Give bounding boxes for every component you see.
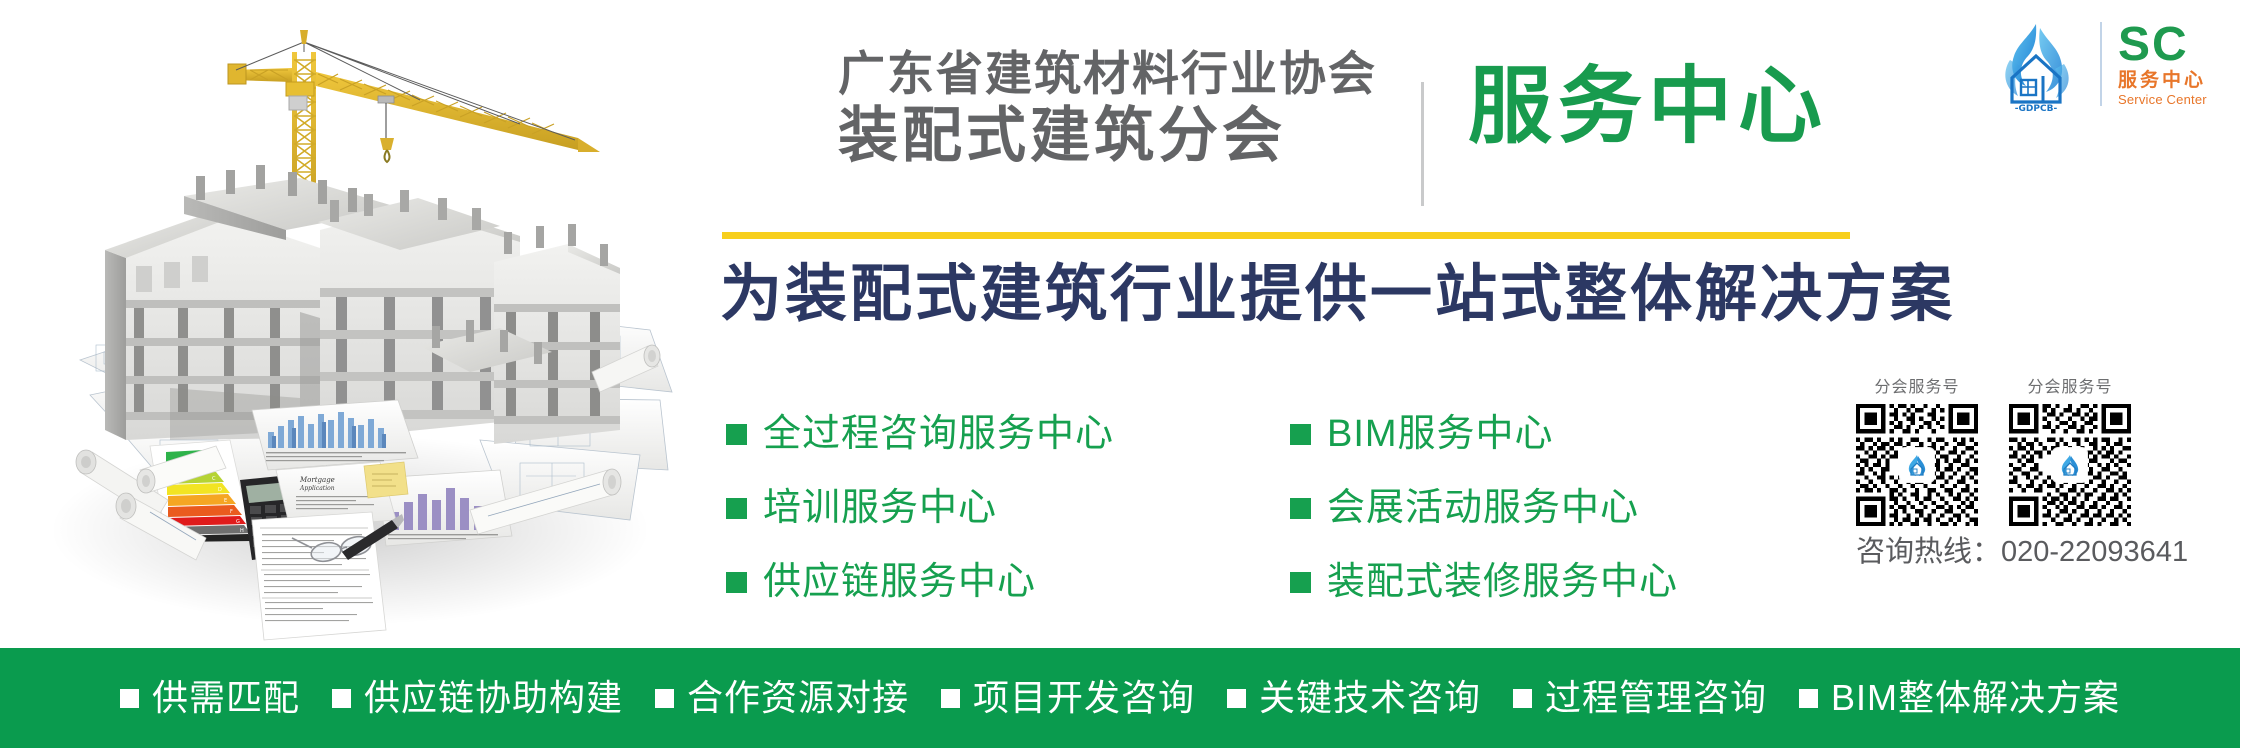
square-bullet-icon bbox=[941, 689, 960, 708]
hotline-text: 咨询热线：020-22093641 bbox=[1856, 534, 2146, 570]
service-label: 会展活动服务中心 bbox=[1327, 488, 1639, 528]
svg-text:C: C bbox=[212, 476, 216, 482]
qr-code-image-2[interactable] bbox=[2009, 404, 2131, 526]
logo-divider bbox=[2100, 22, 2102, 106]
list-item[interactable]: 供应链协助构建 bbox=[332, 679, 623, 717]
list-item[interactable]: 供应链服务中心 bbox=[726, 556, 1114, 608]
bottom-item-label: BIM整体解决方案 bbox=[1831, 679, 2120, 717]
service-label: 全过程咨询服务中心 bbox=[763, 414, 1114, 454]
gdpcb-house-flame-icon: -GDPCB- bbox=[1988, 16, 2084, 112]
svg-text:H: H bbox=[240, 528, 244, 534]
bottom-item-label: 合作资源对接 bbox=[687, 679, 909, 717]
qr-caption: 分会服务号 bbox=[2009, 378, 2131, 398]
logo-wordmark: SC 服务中心 Service Center bbox=[2118, 22, 2207, 107]
list-item[interactable]: 项目开发咨询 bbox=[941, 679, 1195, 717]
list-item[interactable]: 培训服务中心 bbox=[726, 482, 1114, 534]
svg-text:F: F bbox=[230, 509, 233, 515]
svg-text:-GDPCB-: -GDPCB- bbox=[2015, 104, 2058, 112]
association-name-line1: 广东省建筑材料行业协会 bbox=[838, 48, 1378, 100]
svg-text:E: E bbox=[224, 498, 227, 504]
qr-caption: 分会服务号 bbox=[1856, 378, 1978, 398]
service-label: 供应链服务中心 bbox=[763, 562, 1036, 602]
square-bullet-icon bbox=[1799, 689, 1818, 708]
square-bullet-icon bbox=[1227, 689, 1246, 708]
square-bullet-icon bbox=[726, 572, 747, 593]
bottom-item-label: 过程管理咨询 bbox=[1545, 679, 1767, 717]
bottom-item-label: 供需匹配 bbox=[152, 679, 300, 717]
qr-cell[interactable]: 分会服务号 bbox=[1856, 378, 1978, 526]
sticky-note bbox=[364, 462, 408, 498]
list-item[interactable]: BIM整体解决方案 bbox=[1799, 679, 2120, 717]
list-item[interactable]: 会展活动服务中心 bbox=[1290, 482, 1678, 534]
list-item[interactable]: 供需匹配 bbox=[120, 679, 300, 717]
bar-chart-sheet bbox=[252, 400, 418, 470]
brand-logo[interactable]: -GDPCB- SC 服务中心 Service Center bbox=[1988, 14, 2236, 114]
list-item[interactable]: 关键技术咨询 bbox=[1227, 679, 1481, 717]
bottom-item-list: 供需匹配 供应链协助构建 合作资源对接 项目开发咨询 关键技术咨询 过程管理咨询 bbox=[104, 679, 2136, 717]
logo-sc-text: SC bbox=[2118, 22, 2189, 68]
logo-english-text: Service Center bbox=[2118, 92, 2207, 107]
svg-text:D: D bbox=[218, 487, 222, 493]
qr-row: 分会服务号 bbox=[1856, 378, 2146, 526]
square-bullet-icon bbox=[1290, 498, 1311, 519]
service-list-right: BIM服务中心 会展活动服务中心 装配式装修服务中心 bbox=[1290, 408, 1678, 630]
list-item[interactable]: 装配式装修服务中心 bbox=[1290, 556, 1678, 608]
square-bullet-icon bbox=[332, 689, 351, 708]
list-item[interactable]: BIM服务中心 bbox=[1290, 408, 1678, 460]
bottom-item-label: 项目开发咨询 bbox=[973, 679, 1195, 717]
square-bullet-icon bbox=[120, 689, 139, 708]
association-name-line2: 装配式建筑分会 bbox=[838, 104, 1378, 168]
service-label: BIM服务中心 bbox=[1327, 414, 1554, 454]
square-bullet-icon bbox=[1290, 424, 1311, 445]
bottom-item-label: 供应链协助构建 bbox=[364, 679, 623, 717]
gold-horizontal-rule bbox=[722, 232, 1850, 239]
square-bullet-icon bbox=[726, 424, 747, 445]
list-item[interactable]: 合作资源对接 bbox=[655, 679, 909, 717]
square-bullet-icon bbox=[1290, 572, 1311, 593]
logo-chinese-text: 服务中心 bbox=[2118, 70, 2206, 92]
square-bullet-icon bbox=[1513, 689, 1532, 708]
promotional-banner: AB CD EF GH bbox=[0, 0, 2246, 752]
title-vertical-divider bbox=[1421, 82, 1424, 206]
qr-contact-block: 分会服务号 bbox=[1856, 378, 2146, 570]
qr-code-image-1[interactable] bbox=[1856, 404, 1978, 526]
association-title: 广东省建筑材料行业协会 装配式建筑分会 bbox=[838, 48, 1378, 168]
svg-text:G: G bbox=[236, 519, 240, 525]
svg-text:Mortgage: Mortgage bbox=[299, 476, 335, 484]
service-center-heading: 服务中心 bbox=[1468, 60, 1828, 152]
square-bullet-icon bbox=[655, 689, 674, 708]
bottom-service-bar: 供需匹配 供应链协助构建 合作资源对接 项目开发咨询 关键技术咨询 过程管理咨询 bbox=[0, 648, 2240, 748]
service-label: 装配式装修服务中心 bbox=[1327, 562, 1678, 602]
service-label: 培训服务中心 bbox=[763, 488, 997, 528]
list-item[interactable]: 过程管理咨询 bbox=[1513, 679, 1767, 717]
qr-cell[interactable]: 分会服务号 bbox=[2009, 378, 2131, 526]
tagline-text: 为装配式建筑行业提供一站式整体解决方案 bbox=[720, 252, 1955, 338]
construction-illustration: AB CD EF GH bbox=[0, 0, 700, 648]
square-bullet-icon bbox=[726, 498, 747, 519]
bottom-item-label: 关键技术咨询 bbox=[1259, 679, 1481, 717]
svg-text:Application: Application bbox=[299, 485, 335, 492]
qr-center-logo-icon bbox=[1900, 448, 1934, 482]
list-item[interactable]: 全过程咨询服务中心 bbox=[726, 408, 1114, 460]
service-list-left: 全过程咨询服务中心 培训服务中心 供应链服务中心 bbox=[726, 408, 1114, 630]
qr-center-logo-icon bbox=[2053, 448, 2087, 482]
